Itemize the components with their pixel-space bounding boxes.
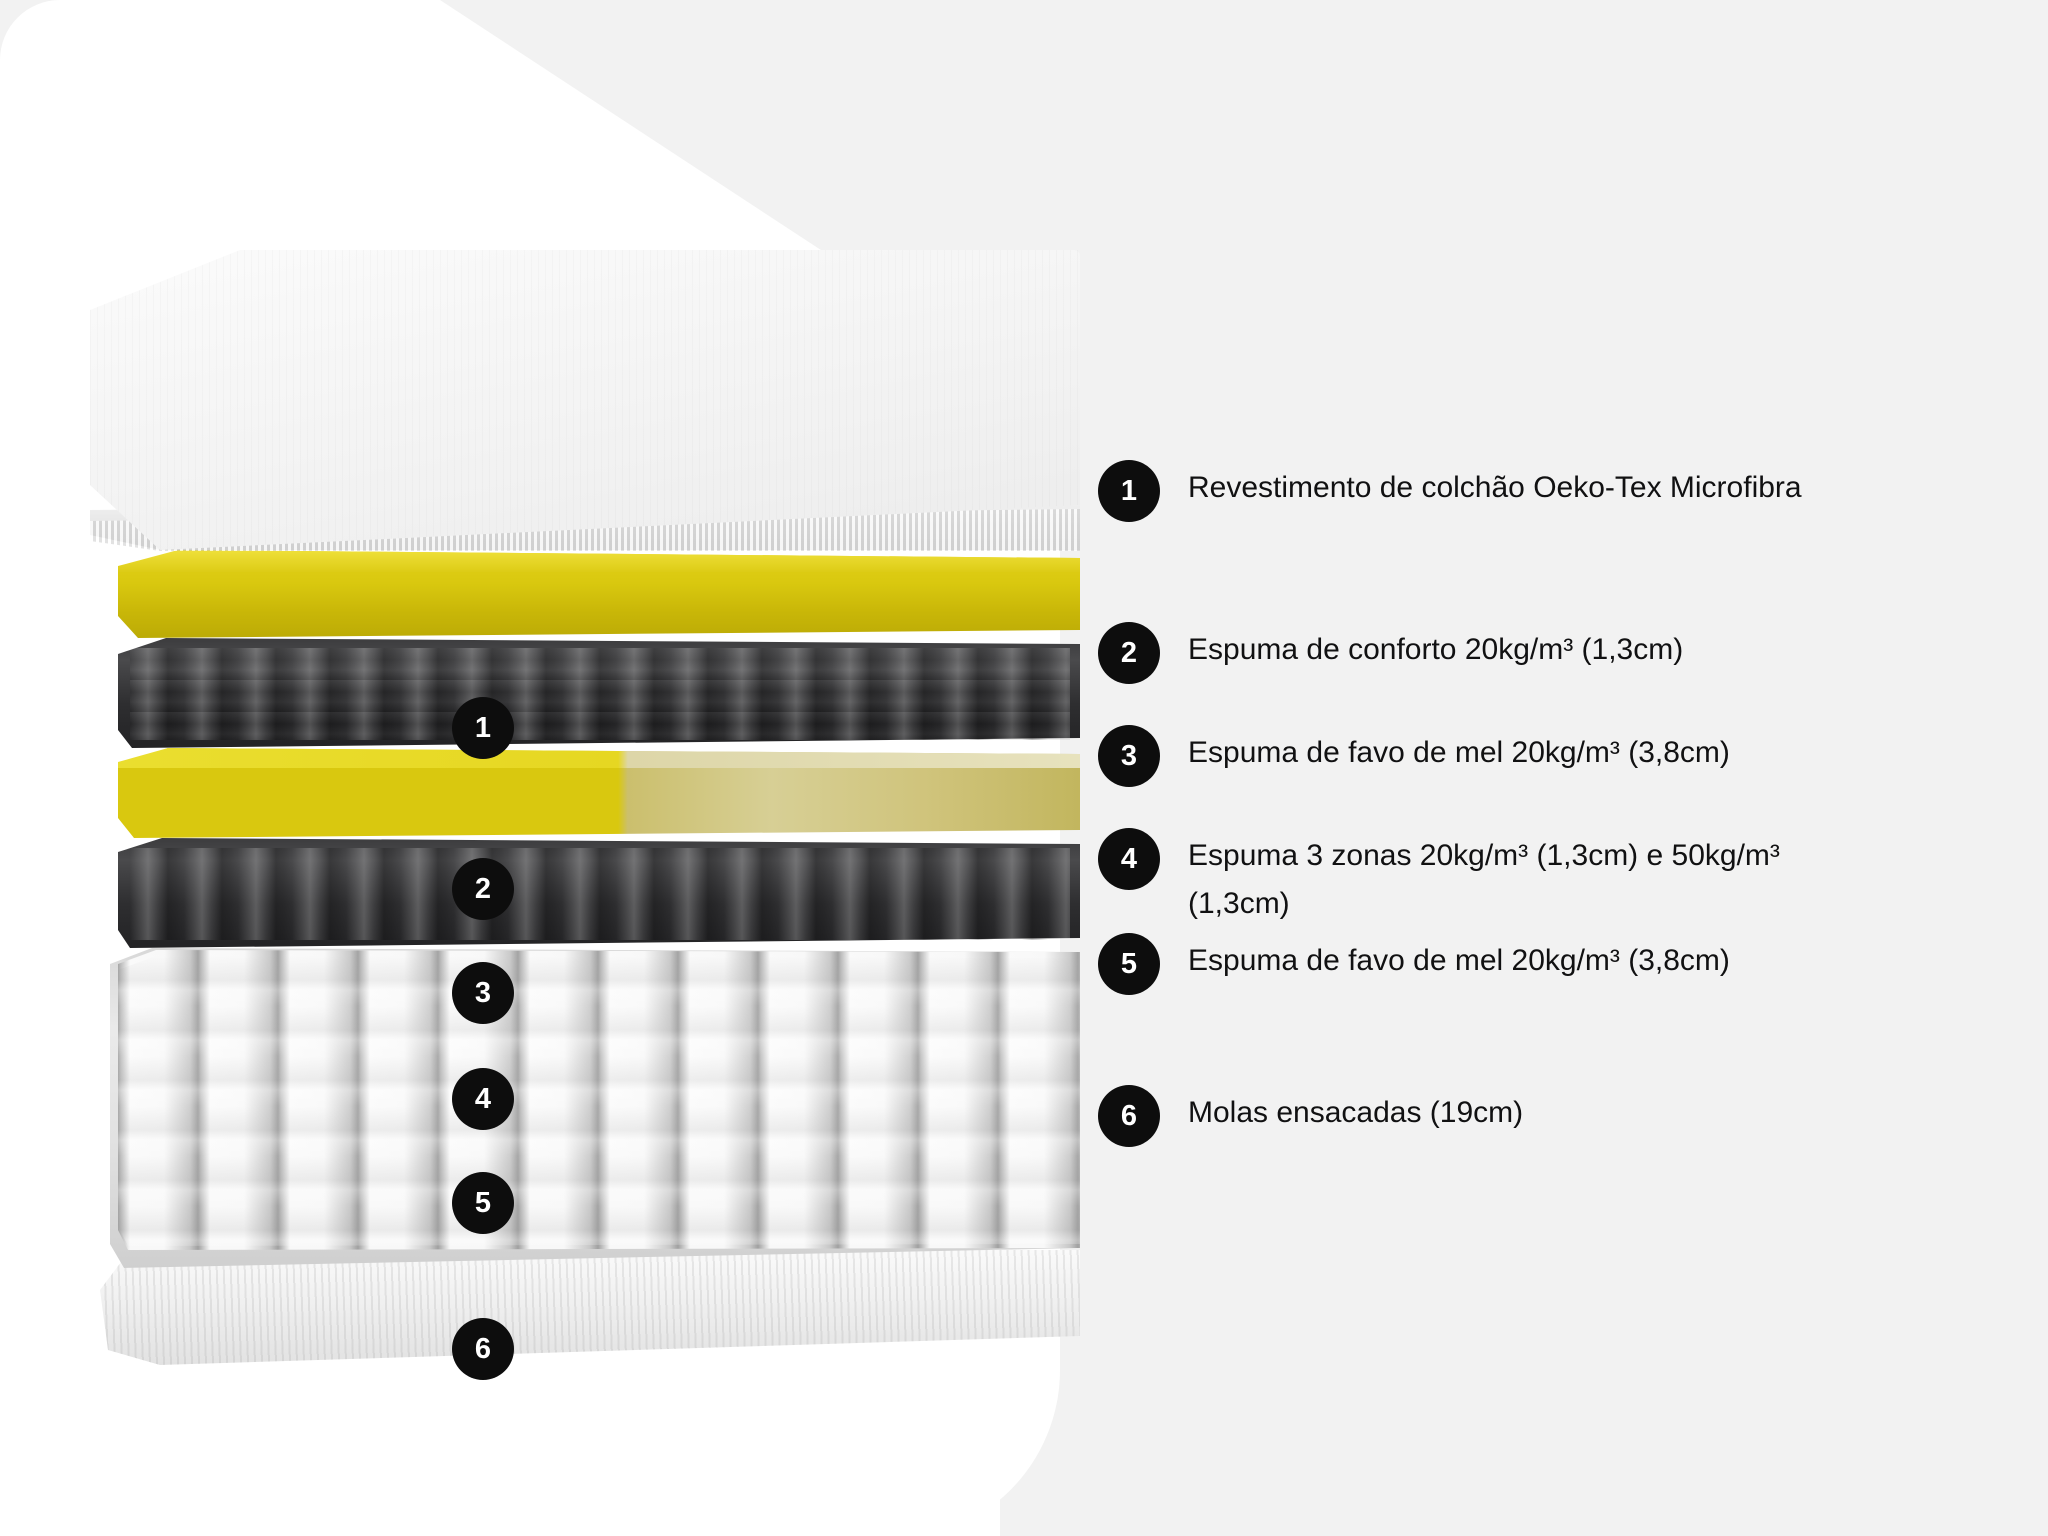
marker-1: 1: [452, 697, 514, 759]
marker-3-number: 3: [475, 977, 491, 1010]
marker-2-number: 2: [475, 873, 491, 906]
legend-badge-1: 1: [1098, 460, 1160, 522]
legend-item-5: 5 Espuma de favo de mel 20kg/m³ (3,8cm): [1098, 933, 1730, 995]
legend-label-1: Revestimento de colchão Oeko-Tex Microfi…: [1188, 460, 1802, 512]
marker-4: 4: [452, 1068, 514, 1130]
layer-1-cover-top: [90, 250, 1080, 550]
mattress-illustration: 1 2 3 4 5 6: [60, 250, 1080, 1370]
legend-label-3: Espuma de favo de mel 20kg/m³ (3,8cm): [1188, 725, 1730, 777]
legend-badge-1-number: 1: [1121, 475, 1137, 508]
legend-badge-3: 3: [1098, 725, 1160, 787]
legend-badge-6-number: 6: [1121, 1100, 1137, 1133]
mattress-base-texture: [100, 1250, 1080, 1365]
legend-badge-5: 5: [1098, 933, 1160, 995]
legend-label-2: Espuma de conforto 20kg/m³ (1,3cm): [1188, 622, 1683, 674]
legend-label-4: Espuma 3 zonas 20kg/m³ (1,3cm) e 50kg/m³…: [1188, 828, 1818, 928]
layer-2-top-face: [118, 550, 1080, 572]
legend-badge-3-number: 3: [1121, 740, 1137, 773]
legend-item-3: 3 Espuma de favo de mel 20kg/m³ (3,8cm): [1098, 725, 1730, 787]
legend-badge-2: 2: [1098, 622, 1160, 684]
marker-6-number: 6: [475, 1333, 491, 1366]
legend-badge-6: 6: [1098, 1085, 1160, 1147]
legend-item-2: 2 Espuma de conforto 20kg/m³ (1,3cm): [1098, 622, 1683, 684]
spring-coil-highlights: [118, 956, 1080, 1246]
legend-badge-4-number: 4: [1121, 843, 1137, 876]
legend-item-4: 4 Espuma 3 zonas 20kg/m³ (1,3cm) e 50kg/…: [1098, 828, 1818, 928]
layer-4-top-face: [118, 748, 1080, 768]
legend-badge-2-number: 2: [1121, 637, 1137, 670]
marker-4-number: 4: [475, 1083, 491, 1116]
layer-3-wave-rows: [130, 648, 1070, 740]
legend-badge-5-number: 5: [1121, 948, 1137, 981]
marker-1-number: 1: [475, 712, 491, 745]
marker-3: 3: [452, 962, 514, 1024]
marker-2: 2: [452, 858, 514, 920]
mattress-layers-diagram: 1 2 3 4 5 6 1 Revestimento de colchão Oe…: [0, 0, 2048, 1536]
marker-6: 6: [452, 1318, 514, 1380]
cover-fabric-texture: [90, 250, 1080, 550]
layer-5-wave-texture: [130, 848, 1070, 940]
legend-item-6: 6 Molas ensacadas (19cm): [1098, 1085, 1523, 1147]
legend-item-1: 1 Revestimento de colchão Oeko-Tex Micro…: [1098, 460, 1802, 522]
legend-label-5: Espuma de favo de mel 20kg/m³ (3,8cm): [1188, 933, 1730, 985]
marker-5-number: 5: [475, 1187, 491, 1220]
marker-5: 5: [452, 1172, 514, 1234]
legend-label-6: Molas ensacadas (19cm): [1188, 1085, 1523, 1137]
legend-badge-4: 4: [1098, 828, 1160, 890]
